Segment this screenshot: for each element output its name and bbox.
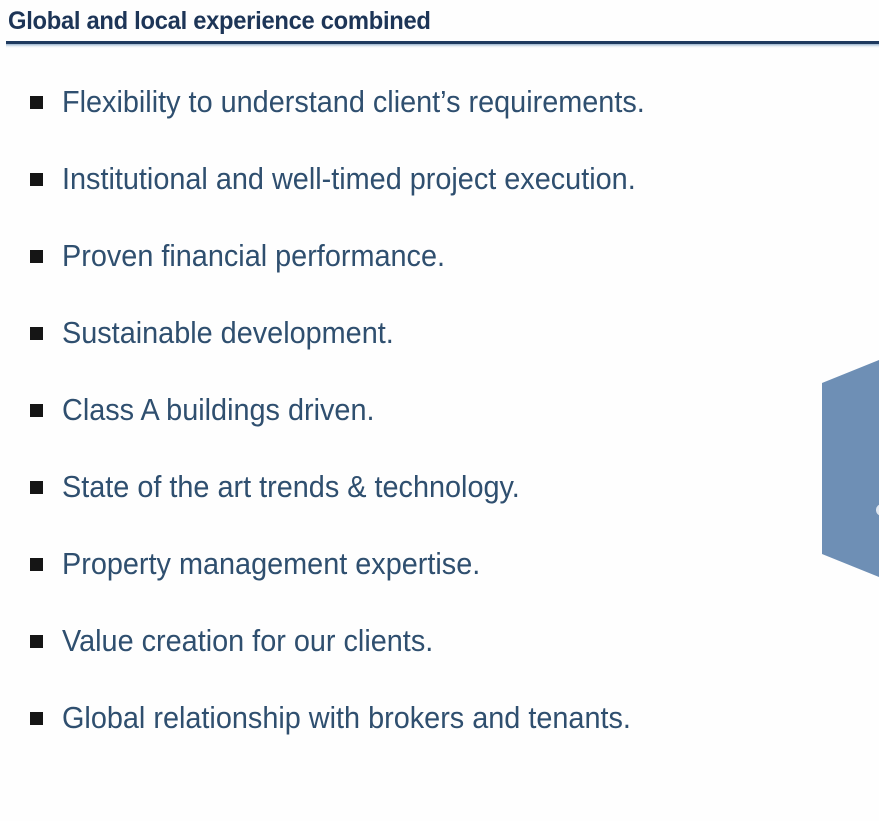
- list-item: Institutional and well-timed project exe…: [0, 159, 879, 236]
- list-item: Class A buildings driven.: [0, 390, 879, 467]
- slide-canvas: Global and local experience combined Fle…: [0, 0, 879, 821]
- square-bullet-icon: [30, 96, 43, 109]
- list-item: Sustainable development.: [0, 313, 879, 390]
- square-bullet-icon: [30, 404, 43, 417]
- list-item: Property management expertise.: [0, 544, 879, 621]
- list-item: Value creation for our clients.: [0, 621, 879, 698]
- bullet-text: Institutional and well-timed project exe…: [62, 159, 636, 199]
- bullet-text: Proven financial performance.: [62, 236, 445, 276]
- bullet-text: Global relationship with brokers and ten…: [62, 698, 631, 738]
- square-bullet-icon: [30, 327, 43, 340]
- square-bullet-icon: [30, 481, 43, 494]
- square-bullet-icon: [30, 173, 43, 186]
- bullet-text: Value creation for our clients.: [62, 621, 433, 661]
- square-bullet-icon: [30, 558, 43, 571]
- title-divider-glow: [6, 44, 879, 48]
- bullet-text: Flexibility to understand client’s requi…: [62, 82, 645, 122]
- bullet-list: Flexibility to understand client’s requi…: [0, 82, 879, 775]
- list-item: Flexibility to understand client’s requi…: [0, 82, 879, 159]
- bullet-text: Class A buildings driven.: [62, 390, 375, 430]
- list-item: Proven financial performance.: [0, 236, 879, 313]
- slide-title-block: Global and local experience combined: [0, 0, 879, 52]
- list-item: State of the art trends & technology.: [0, 467, 879, 544]
- square-bullet-icon: [30, 712, 43, 725]
- list-item: Global relationship with brokers and ten…: [0, 698, 879, 775]
- bullet-text: State of the art trends & technology.: [62, 467, 520, 507]
- bullet-text: Property management expertise.: [62, 544, 480, 584]
- square-bullet-icon: [30, 250, 43, 263]
- page-title: Global and local experience combined: [8, 2, 431, 40]
- bullet-text: Sustainable development.: [62, 313, 394, 353]
- square-bullet-icon: [30, 635, 43, 648]
